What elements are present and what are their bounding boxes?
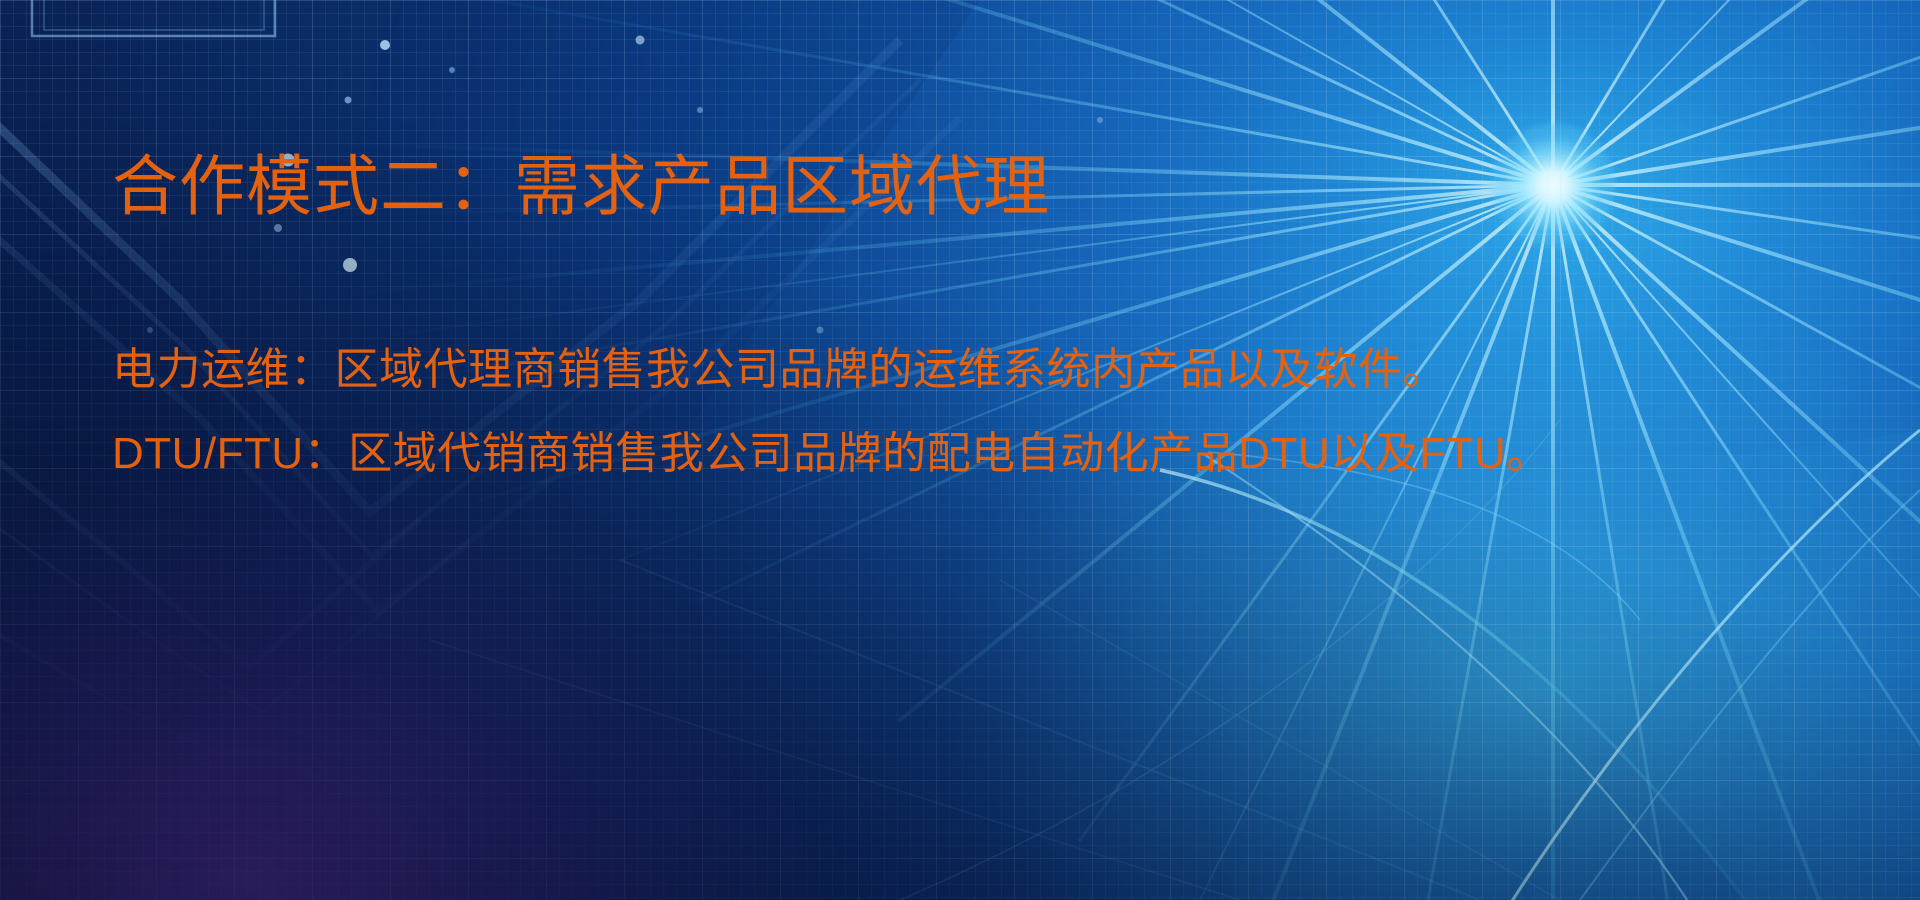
arc-wedge-fill bbox=[1160, 430, 1920, 900]
sweep-arcs-icon bbox=[900, 420, 1920, 900]
presentation-slide: 合作模式二：需求产品区域代理 电力运维：区域代理商销售我公司品牌的运维系统内产品… bbox=[0, 0, 1920, 900]
body-line-power-ops: 电力运维：区域代理商销售我公司品牌的运维系统内产品以及软件。 bbox=[112, 348, 1872, 392]
slide-body: 电力运维：区域代理商销售我公司品牌的运维系统内产品以及软件。 DTU/FTU：区… bbox=[112, 348, 1872, 476]
slide-title: 合作模式二：需求产品区域代理 bbox=[112, 150, 1050, 224]
diagonal-guides bbox=[430, 560, 1560, 900]
body-line-dtu-ftu: DTU/FTU：区域代销商销售我公司品牌的配电自动化产品DTU以及FTU。 bbox=[112, 432, 1872, 476]
blueprint-rectangle-icon bbox=[32, 0, 275, 36]
